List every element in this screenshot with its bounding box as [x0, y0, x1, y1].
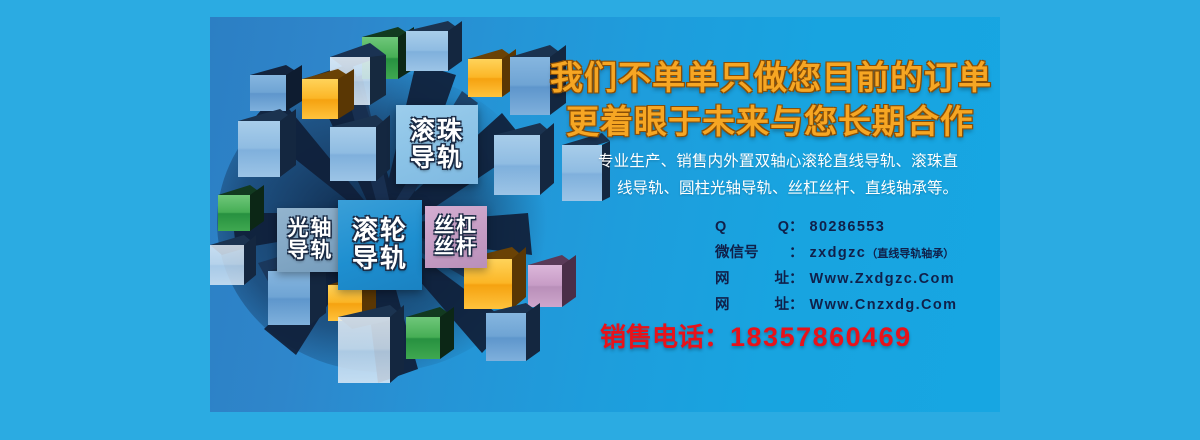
- contact-value-website-1[interactable]: Www.Zxdgzc.Com: [810, 271, 956, 287]
- headline-line-1: 我们不单单只做您目前的订单: [550, 51, 990, 99]
- product-tile-line1: 滚珠: [410, 118, 464, 145]
- contact-row-wechat: 微信号 ： zxdgzc （直线导轨轴承）: [715, 241, 1000, 262]
- contact-label-part-a: 网: [715, 293, 730, 314]
- intro-paragraph: 专业生产、销售内外置双轴心滚轮直线导轨、滚珠直线导轨、圆柱光轴导轨、丝杠丝杆、直…: [598, 149, 958, 202]
- contact-row-qq: Q Q ： 80286553: [715, 215, 1000, 236]
- contact-label-website: 网 址: [715, 267, 789, 288]
- contact-row-website-1: 网 址 ： Www.Zxdgzc.Com: [715, 267, 1000, 288]
- contact-colon: ：: [789, 267, 804, 288]
- contact-colon: ：: [789, 241, 804, 262]
- product-tile-sigang-sigan[interactable]: 丝杠 丝杆: [425, 206, 487, 268]
- product-tile-line1: 丝杠: [434, 216, 478, 237]
- contact-label-part-a: 网: [715, 267, 730, 288]
- contact-label-part-a: 微信号: [715, 241, 759, 262]
- product-tile-line2: 导轨: [288, 240, 334, 262]
- product-tile-guangzhou-daogui[interactable]: 光轴 导轨: [277, 208, 344, 272]
- banner-page: 滚珠 导轨 光轴 导轨 滚轮 导轨 丝杠 丝杆 我们不单单只做您目前的订单 更着…: [0, 0, 1200, 440]
- contact-label-website: 网 址: [715, 293, 789, 314]
- contact-block: Q Q ： 80286553 微信号 ： zxdgzc （直线导轨轴承）: [715, 215, 1000, 319]
- contact-colon: ：: [789, 293, 804, 314]
- product-tile-line2: 导轨: [410, 145, 464, 172]
- contact-label-wechat: 微信号: [715, 241, 789, 262]
- contact-value-wechat[interactable]: zxdgzc: [810, 245, 867, 261]
- banner-copy: 我们不单单只做您目前的订单 更着眼于未来与您长期合作 专业生产、销售内外置双轴心…: [550, 17, 1000, 412]
- contact-colon: ：: [789, 215, 804, 236]
- contact-label-part-b: Q: [778, 219, 789, 235]
- sales-phone-label: 销售电话：: [600, 322, 730, 352]
- product-tile-line2: 丝杆: [434, 237, 478, 258]
- contact-label-qq: Q Q: [715, 219, 789, 235]
- product-tile-gunlun-daogui[interactable]: 滚轮 导轨: [338, 200, 422, 290]
- product-tile-gunzhu-daogui[interactable]: 滚珠 导轨: [396, 105, 478, 184]
- contact-note-wechat: （直线导轨轴承）: [866, 245, 954, 261]
- product-tile-line1: 光轴: [288, 218, 334, 240]
- contact-label-part-b: 址: [775, 267, 790, 288]
- product-tile-line1: 滚轮: [352, 217, 408, 245]
- promo-banner: 滚珠 导轨 光轴 导轨 滚轮 导轨 丝杠 丝杆 我们不单单只做您目前的订单 更着…: [210, 17, 1000, 412]
- product-tile-line2: 导轨: [352, 245, 408, 273]
- headline-line-2: 更着眼于未来与您长期合作: [550, 95, 990, 143]
- contact-label-part-b: 址: [775, 293, 790, 314]
- contact-value-qq[interactable]: 80286553: [810, 219, 886, 235]
- contact-value-website-2[interactable]: Www.Cnzxdg.Com: [810, 297, 958, 313]
- sales-phone-number[interactable]: 18357860469: [730, 322, 912, 352]
- contact-row-website-2: 网 址 ： Www.Cnzxdg.Com: [715, 293, 1000, 314]
- sales-phone[interactable]: 销售电话：18357860469: [600, 317, 960, 354]
- contact-label-part-a: Q: [715, 219, 726, 235]
